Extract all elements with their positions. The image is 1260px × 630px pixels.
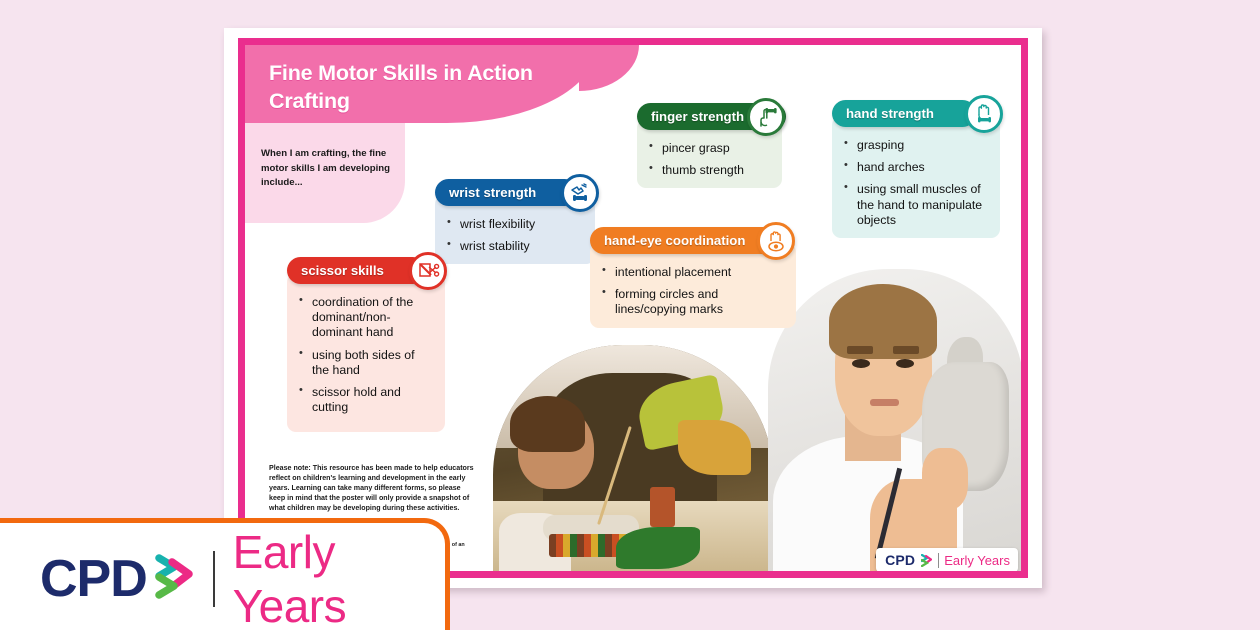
page-title: Fine Motor Skills in Action Crafting	[269, 59, 599, 116]
poster-frame: Fine Motor Skills in Action Crafting Whe…	[238, 38, 1028, 578]
disclaimer-text: Please note: This resource has been made…	[269, 463, 475, 513]
hand-eye-icon	[757, 222, 795, 260]
list-item: intentional placement	[600, 265, 784, 280]
list-item: using small muscles of the hand to manip…	[842, 182, 988, 228]
list-item: hand arches	[842, 160, 988, 175]
card-wrist-strength-list: wrist flexibility wrist stability	[445, 217, 583, 254]
card-scissor-skills-list: coordination of the dominant/non-dominan…	[297, 295, 433, 416]
card-hand-eye-coordination-list: intentional placement forming circles an…	[600, 265, 784, 318]
page-title-line1: Fine Motor Skills in Action	[269, 59, 599, 87]
list-item: wrist stability	[445, 239, 583, 254]
photo-cpd-logo: CPD Early Years	[876, 548, 1018, 571]
card-scissor-skills-label: scissor skills	[287, 257, 426, 284]
card-hand-strength-label: hand strength	[832, 100, 976, 127]
card-wrist-strength-label: wrist strength	[435, 179, 578, 206]
cpd-wordmark-large: CPD	[40, 549, 147, 609]
list-item: pincer grasp	[647, 141, 770, 156]
intro-text: When I am crafting, the fine motor skill…	[261, 147, 393, 191]
poster-screenshot: Fine Motor Skills in Action Crafting Whe…	[0, 0, 1260, 630]
card-hand-strength-list: grasping hand arches using small muscles…	[842, 138, 988, 228]
scissors-paper-icon	[409, 252, 447, 290]
card-scissor-skills-body: coordination of the dominant/non-dominan…	[287, 273, 445, 432]
photo-left-surface	[493, 345, 773, 571]
photo-right-surface	[768, 269, 1021, 571]
list-item: using both sides of the hand	[297, 348, 433, 378]
hand-dumbbell-icon	[561, 174, 599, 212]
poster-content: Fine Motor Skills in Action Crafting Whe…	[245, 45, 1021, 571]
list-item: grasping	[842, 138, 988, 153]
page-title-line2: Crafting	[269, 87, 599, 115]
logo-divider-large	[213, 551, 215, 607]
chevron-logo-icon-large	[155, 553, 195, 606]
card-hand-strength-body: grasping hand arches using small muscles…	[832, 116, 1000, 238]
logo-divider	[938, 553, 939, 568]
list-item: thumb strength	[647, 163, 770, 178]
early-years-wordmark: Early Years	[944, 553, 1010, 568]
cpd-early-years-banner: CPD Early Years	[0, 518, 450, 630]
list-item: scissor hold and cutting	[297, 385, 433, 415]
cpd-wordmark: CPD	[885, 552, 915, 568]
card-finger-strength-list: pincer grasp thumb strength	[647, 141, 770, 178]
open-hand-dumbbell-icon	[965, 95, 1003, 133]
pointing-finger-dumbbell-icon	[747, 98, 785, 136]
photo-boy-clay-sculpture: CPD Early Years	[768, 269, 1021, 571]
photo-child-painting-leaves	[493, 345, 773, 571]
list-item: wrist flexibility	[445, 217, 583, 232]
chevron-logo-icon	[921, 554, 932, 567]
list-item: coordination of the dominant/non-dominan…	[297, 295, 433, 341]
list-item: forming circles and lines/copying marks	[600, 287, 784, 317]
early-years-wordmark-large: Early Years	[233, 525, 445, 630]
